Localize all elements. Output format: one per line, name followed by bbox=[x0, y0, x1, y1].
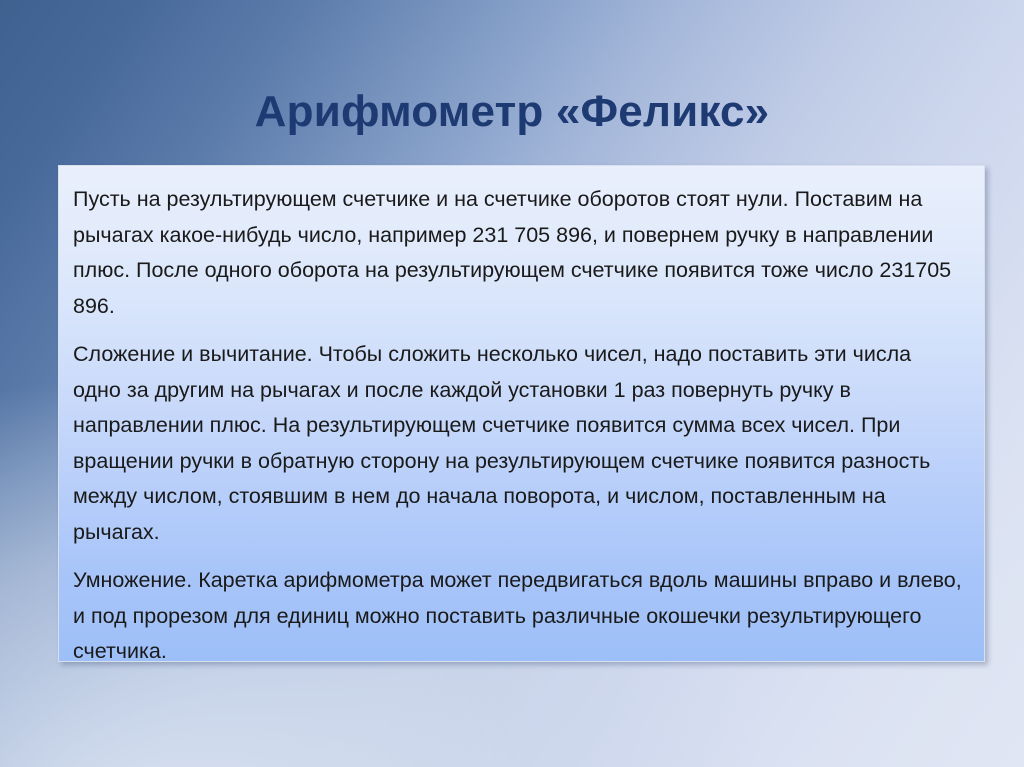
presentation-slide: Арифмометр «Феликс» Пусть на результирую… bbox=[0, 0, 1024, 767]
body-paragraph-3: Умножение. Каретка арифмометра может пер… bbox=[73, 563, 962, 670]
slide-title: Арифмометр «Феликс» bbox=[0, 87, 1024, 138]
body-paragraph-2: Сложение и вычитание. Чтобы сложить неск… bbox=[73, 337, 962, 550]
body-paragraph-1: Пусть на результирующем счетчике и на сч… bbox=[73, 182, 962, 324]
content-text-box: Пусть на результирующем счетчике и на сч… bbox=[58, 165, 985, 662]
